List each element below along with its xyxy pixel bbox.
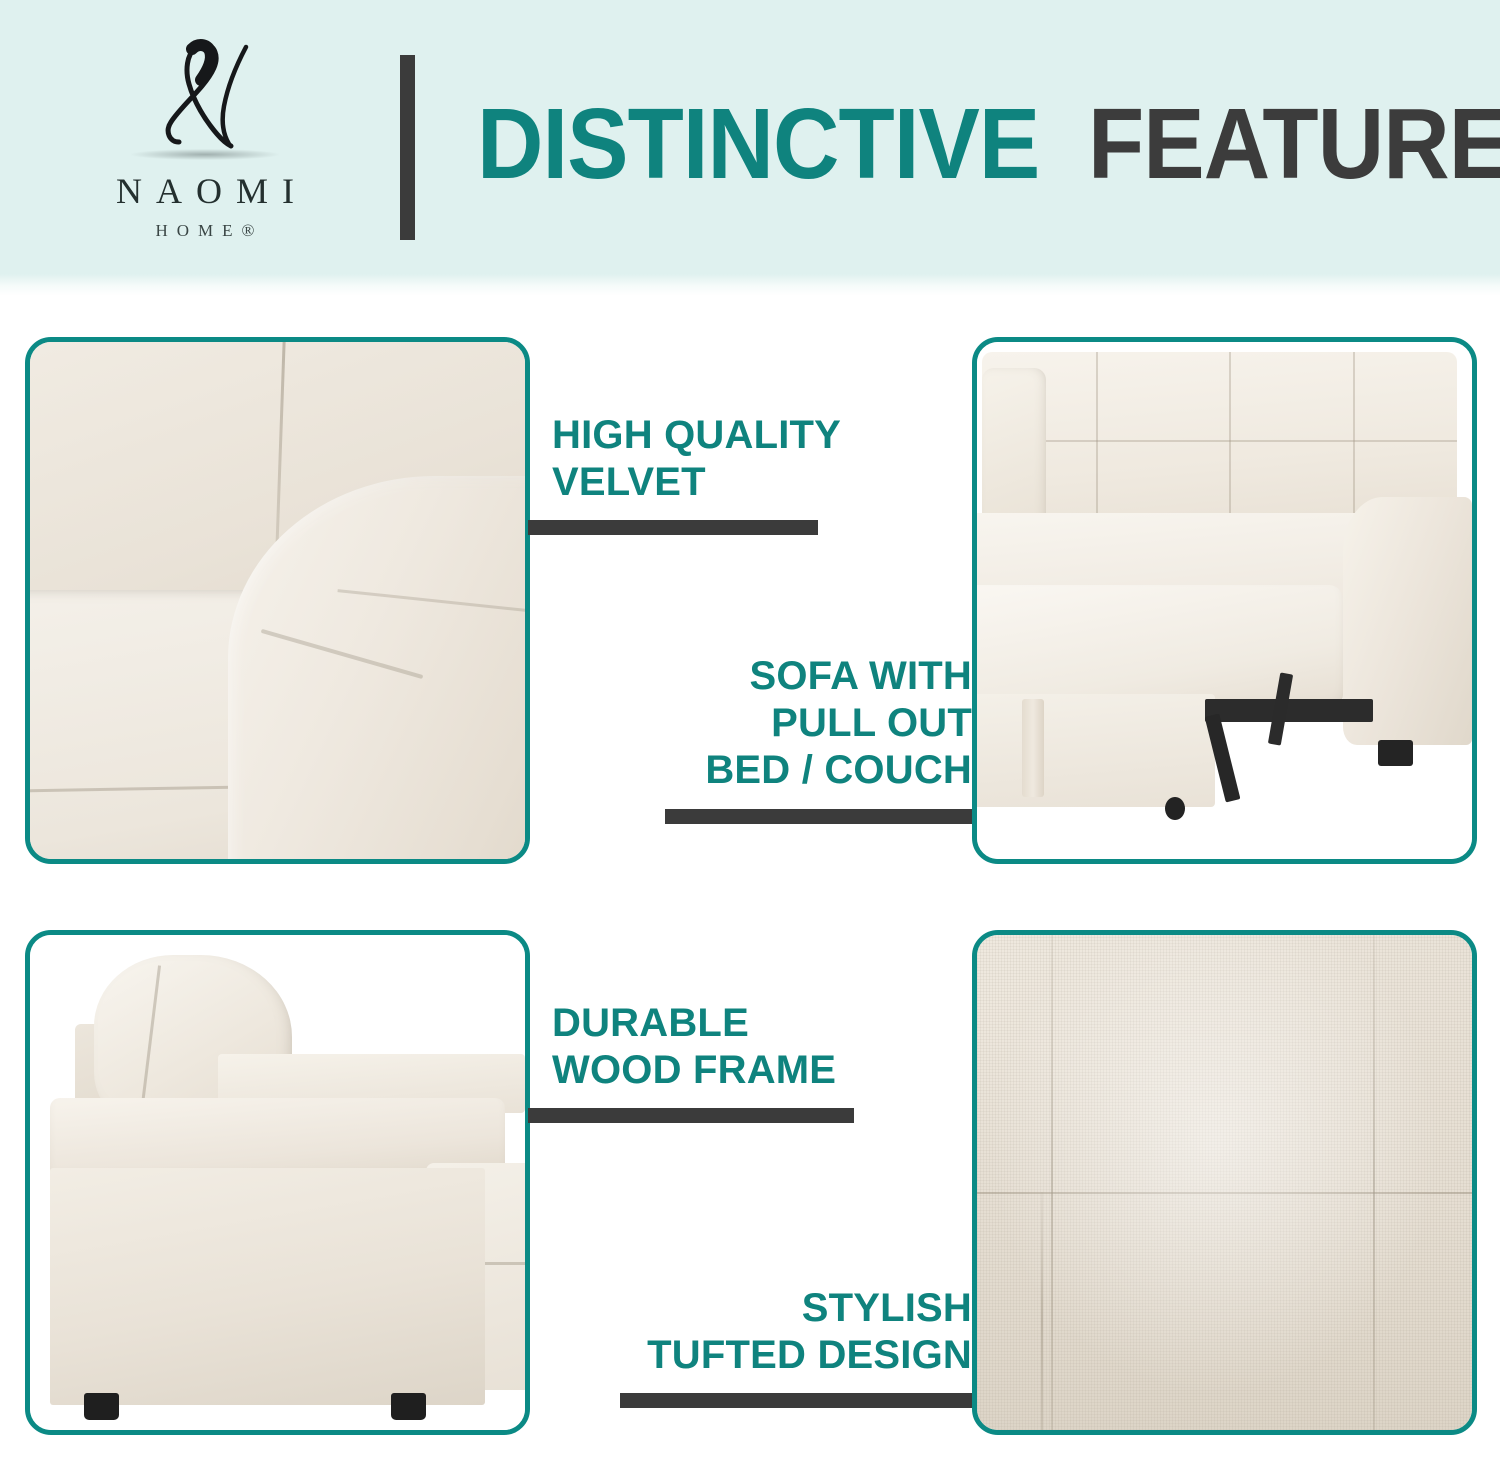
callout-label-sofa-with-pull-out-bed-couch: SOFA WITH PULL OUT BED / COUCH <box>555 653 972 795</box>
vertical-divider-icon <box>400 55 415 240</box>
bed-caster-wheel <box>1165 797 1185 820</box>
brand-name: NAOMI <box>102 170 308 212</box>
fabric-shading <box>977 935 1472 1430</box>
callout-underline-bar <box>620 1393 972 1408</box>
callout-underline-bar <box>528 1108 854 1123</box>
metal-bed-frame <box>1205 699 1373 722</box>
storage-drawer-front <box>977 694 1215 808</box>
header-fade <box>0 274 1500 296</box>
feature-image-stylish-tufted-design <box>972 930 1477 1435</box>
page-header: NAOMI HOME® DISTINCTIVE FEATURES <box>0 0 1500 288</box>
callout-underline-bar <box>528 520 818 535</box>
back-bolster-cushion <box>982 368 1046 533</box>
photo-side-profile <box>30 935 525 1430</box>
callout-label-durable-wood-frame: DURABLE WOOD FRAME <box>552 1000 972 1094</box>
wooden-foot-right <box>391 1393 426 1420</box>
page-title-primary: DISTINCTIVE <box>477 94 1039 194</box>
callout-sofa-with-pull-out-bed-couch: SOFA WITH PULL OUT BED / COUCH <box>555 653 972 824</box>
callout-label-stylish-tufted-design: STYLISH TUFTED DESIGN <box>555 1285 972 1379</box>
photo-tufted-fabric <box>977 935 1472 1430</box>
callout-stylish-tufted-design: STYLISH TUFTED DESIGN <box>555 1285 972 1408</box>
callout-high-quality-velvet: HIGH QUALITY VELVET <box>552 412 972 535</box>
feature-image-sofa-with-pull-out-bed-couch <box>972 337 1477 864</box>
brand-subtitle: HOME® <box>147 221 264 241</box>
photo-pullout-bed <box>977 342 1472 859</box>
script-n-monogram-icon <box>145 30 265 155</box>
photo-velvet-closeup <box>30 342 525 859</box>
feature-infographic-page: NAOMI HOME® DISTINCTIVE FEATURES <box>0 0 1500 1461</box>
page-title: DISTINCTIVE FEATURES <box>477 86 1477 201</box>
callout-label-high-quality-velvet: HIGH QUALITY VELVET <box>552 412 972 506</box>
feature-image-durable-wood-frame <box>25 930 530 1435</box>
brand-logo: NAOMI HOME® <box>40 30 370 255</box>
page-title-secondary: FEATURES <box>1088 94 1500 194</box>
wooden-foot-left <box>84 1393 119 1420</box>
callout-durable-wood-frame: DURABLE WOOD FRAME <box>552 1000 972 1123</box>
sofa-foot <box>1378 740 1413 766</box>
sofa-base-body <box>50 1168 486 1406</box>
callout-underline-bar <box>665 809 972 824</box>
feature-image-high-quality-velvet <box>25 337 530 864</box>
pull-strap <box>1022 699 1044 797</box>
